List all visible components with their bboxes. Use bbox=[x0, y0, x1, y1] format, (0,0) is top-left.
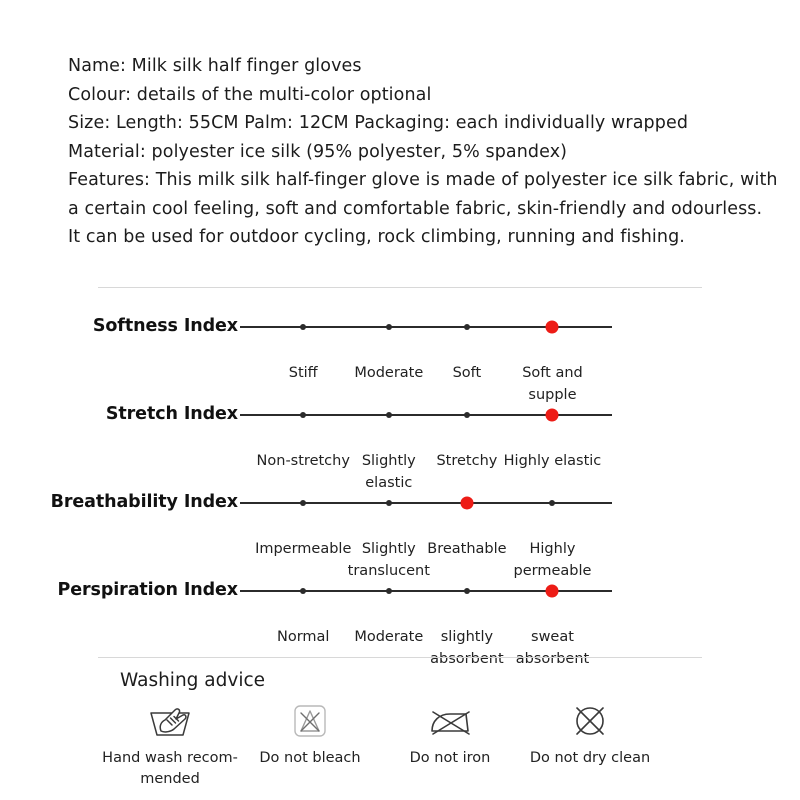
index-dot bbox=[300, 588, 306, 594]
index-dot bbox=[386, 412, 392, 418]
do-not-bleach-icon bbox=[240, 698, 380, 744]
index-label: Perspiration Index bbox=[0, 580, 238, 600]
index-dot-active bbox=[546, 321, 559, 334]
care-item-label: Do not dry clean bbox=[520, 748, 660, 769]
index-axis: Non-stretchy Slightly elastic Stretchy H… bbox=[240, 414, 612, 416]
divider-top bbox=[98, 287, 702, 288]
index-axis: Normal Moderate slightly absorbent sweat… bbox=[240, 590, 612, 592]
do-not-dry-clean-icon bbox=[520, 698, 660, 744]
index-row-softness: Softness Index Stiff Moderate Soft Soft … bbox=[0, 300, 800, 388]
index-row-breathability: Breathability Index Impermeable Slightly… bbox=[0, 476, 800, 564]
index-scales: Softness Index Stiff Moderate Soft Soft … bbox=[0, 300, 800, 652]
index-dot bbox=[386, 324, 392, 330]
index-label: Softness Index bbox=[0, 316, 238, 336]
index-dot-active bbox=[546, 585, 559, 598]
description-line: Size: Length: 55CM Palm: 12CM Packaging:… bbox=[68, 109, 780, 138]
index-dot bbox=[300, 500, 306, 506]
care-item-do-not-dry-clean: Do not dry clean bbox=[520, 698, 660, 769]
care-item-label: Do not iron bbox=[380, 748, 520, 769]
index-dot bbox=[300, 324, 306, 330]
care-item-do-not-iron: Do not iron bbox=[380, 698, 520, 769]
index-dot bbox=[386, 500, 392, 506]
hand-wash-icon bbox=[100, 698, 240, 744]
product-description: Name: Milk silk half finger gloves Colou… bbox=[68, 52, 780, 252]
description-line: Colour: details of the multi-color optio… bbox=[68, 81, 780, 110]
index-label: Breathability Index bbox=[0, 492, 238, 512]
index-dot bbox=[386, 588, 392, 594]
description-line: Material: polyester ice silk (95% polyes… bbox=[68, 138, 780, 167]
description-line: Name: Milk silk half finger gloves bbox=[68, 52, 780, 81]
index-dot bbox=[464, 412, 470, 418]
do-not-iron-icon bbox=[380, 698, 520, 744]
description-line: It can be used for outdoor cycling, rock… bbox=[68, 223, 780, 252]
divider-bottom bbox=[98, 657, 702, 658]
washing-advice-title: Washing advice bbox=[120, 670, 265, 691]
index-dot-active bbox=[546, 409, 559, 422]
index-axis: Impermeable Slightly translucent Breatha… bbox=[240, 502, 612, 504]
index-tick-label: Highly elastic bbox=[496, 450, 608, 472]
care-item-label: Hand wash recom- mended bbox=[100, 748, 240, 790]
index-dot bbox=[549, 500, 555, 506]
index-dot bbox=[464, 324, 470, 330]
index-tick-label: sweat absorbent bbox=[496, 626, 608, 670]
index-row-stretch: Stretch Index Non-stretchy Slightly elas… bbox=[0, 388, 800, 476]
index-dot bbox=[300, 412, 306, 418]
care-item-hand-wash: Hand wash recom- mended bbox=[100, 698, 240, 790]
description-line: a certain cool feeling, soft and comfort… bbox=[68, 195, 780, 224]
index-row-perspiration: Perspiration Index Normal Moderate sligh… bbox=[0, 564, 800, 652]
description-line: Features: This milk silk half-finger glo… bbox=[68, 166, 780, 195]
care-item-label: Do not bleach bbox=[240, 748, 380, 769]
care-item-do-not-bleach: Do not bleach bbox=[240, 698, 380, 769]
index-label: Stretch Index bbox=[0, 404, 238, 424]
index-axis: Stiff Moderate Soft Soft and supple bbox=[240, 326, 612, 328]
index-dot bbox=[464, 588, 470, 594]
index-dot-active bbox=[460, 497, 473, 510]
